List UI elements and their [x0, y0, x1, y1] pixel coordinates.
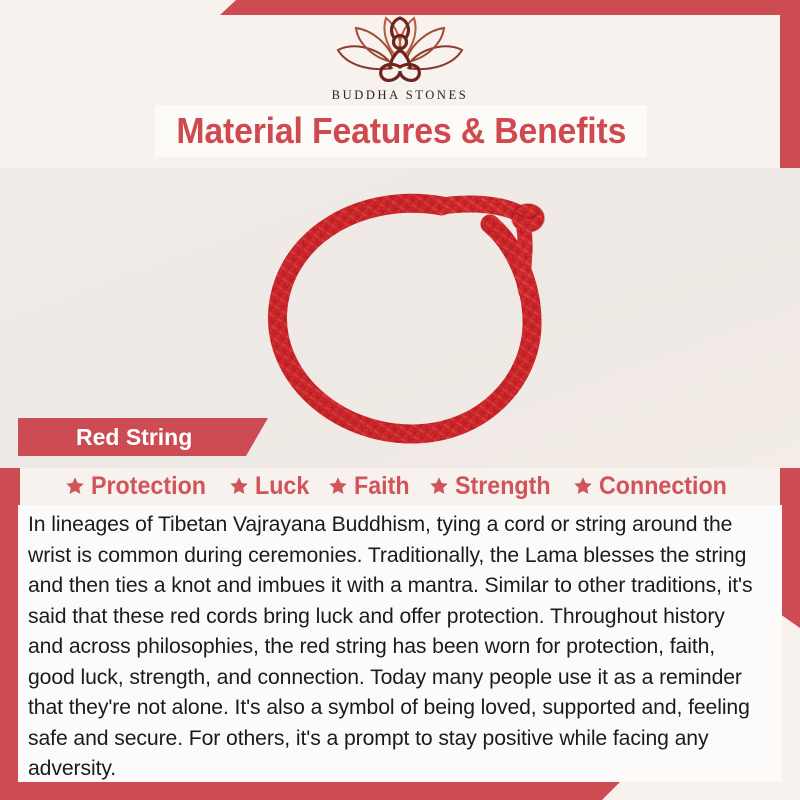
star-icon: [428, 475, 450, 497]
star-icon: [64, 475, 86, 497]
benefit-label: Faith: [354, 472, 410, 501]
infographic-poster: BUDDHA STONES Material Features & Benefi…: [0, 0, 800, 800]
product-name-ribbon: Red String: [18, 418, 268, 456]
benefit-label: Strength: [455, 472, 551, 501]
benefit-item-faith: Faith: [327, 472, 414, 501]
decor-band-bottom: [0, 782, 620, 800]
description-text: In lineages of Tibetan Vajrayana Buddhis…: [28, 509, 761, 784]
star-icon: [327, 475, 349, 497]
star-icon: [228, 475, 250, 497]
benefit-label: Protection: [91, 472, 206, 501]
benefit-item-connection: Connection: [572, 472, 737, 501]
benefit-item-protection: Protection: [64, 472, 215, 501]
lotus-meditation-icon: [330, 14, 470, 86]
red-string-bracelet-image: [244, 162, 584, 474]
benefit-item-strength: Strength: [428, 472, 558, 501]
product-name-label: Red String: [18, 424, 192, 451]
brand-logo: BUDDHA STONES: [0, 14, 800, 103]
benefit-label: Connection: [599, 472, 727, 501]
brand-wordmark: BUDDHA STONES: [0, 88, 800, 103]
benefit-label: Luck: [255, 472, 309, 501]
decor-band-top: [220, 0, 800, 15]
benefits-list: Protection Luck Faith Strength Connectio…: [0, 466, 800, 506]
benefit-item-luck: Luck: [228, 472, 313, 501]
description-panel: In lineages of Tibetan Vajrayana Buddhis…: [18, 505, 782, 782]
page-title: Material Features & Benefits: [176, 110, 626, 152]
star-icon: [572, 475, 594, 497]
title-banner: Material Features & Benefits: [155, 105, 647, 157]
